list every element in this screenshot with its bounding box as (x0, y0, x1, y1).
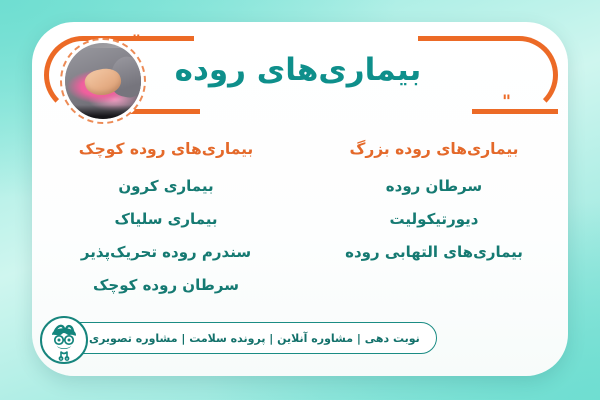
title-area: " " بیماری‌های روده (32, 22, 568, 142)
content-card: " " بیماری‌های روده بیماری‌های روده بزرگ… (32, 22, 568, 376)
decorative-bracket-right-underline (472, 84, 558, 114)
footer-bar: نوبت دهی | مشاوره آنلاین | پرونده سلامت … (32, 310, 568, 362)
doctor-mascot-logo (40, 316, 88, 364)
disease-list-large-intestine: سرطان روده دیورتیکولیت بیماری‌های التهاب… (300, 170, 568, 269)
disease-list-small-intestine: بیماری کرون بیماری سلیاک سندرم روده تحری… (32, 170, 300, 302)
column-large-intestine: بیماری‌های روده بزرگ سرطان روده دیورتیکو… (300, 140, 568, 302)
services-pill: نوبت دهی | مشاوره آنلاین | پرونده سلامت … (54, 322, 437, 354)
quote-mark-bottom-icon: " (502, 94, 512, 111)
list-item: بیماری‌های التهابی روده (300, 236, 568, 269)
page-title: بیماری‌های روده (148, 52, 448, 89)
list-item: دیورتیکولیت (300, 203, 568, 236)
disease-columns: بیماری‌های روده بزرگ سرطان روده دیورتیکو… (32, 140, 568, 302)
column-heading-large-intestine: بیماری‌های روده بزرگ (300, 140, 568, 158)
list-item: سرطان روده کوچک (32, 269, 300, 302)
photo-inner (65, 43, 141, 119)
column-heading-small-intestine: بیماری‌های روده کوچک (32, 140, 300, 158)
column-small-intestine: بیماری‌های روده کوچک بیماری کرون بیماری … (32, 140, 300, 302)
list-item: سندرم روده تحریک‌پذیر (32, 236, 300, 269)
list-item: سرطان روده (300, 170, 568, 203)
abdominal-pain-photo (60, 38, 146, 124)
infographic-stage: " " بیماری‌های روده بیماری‌های روده بزرگ… (0, 0, 600, 400)
list-item: بیماری سلیاک (32, 203, 300, 236)
list-item: بیماری کرون (32, 170, 300, 203)
photo-shadow (65, 105, 141, 119)
services-text: نوبت دهی | مشاوره آنلاین | پرونده سلامت … (89, 332, 420, 345)
